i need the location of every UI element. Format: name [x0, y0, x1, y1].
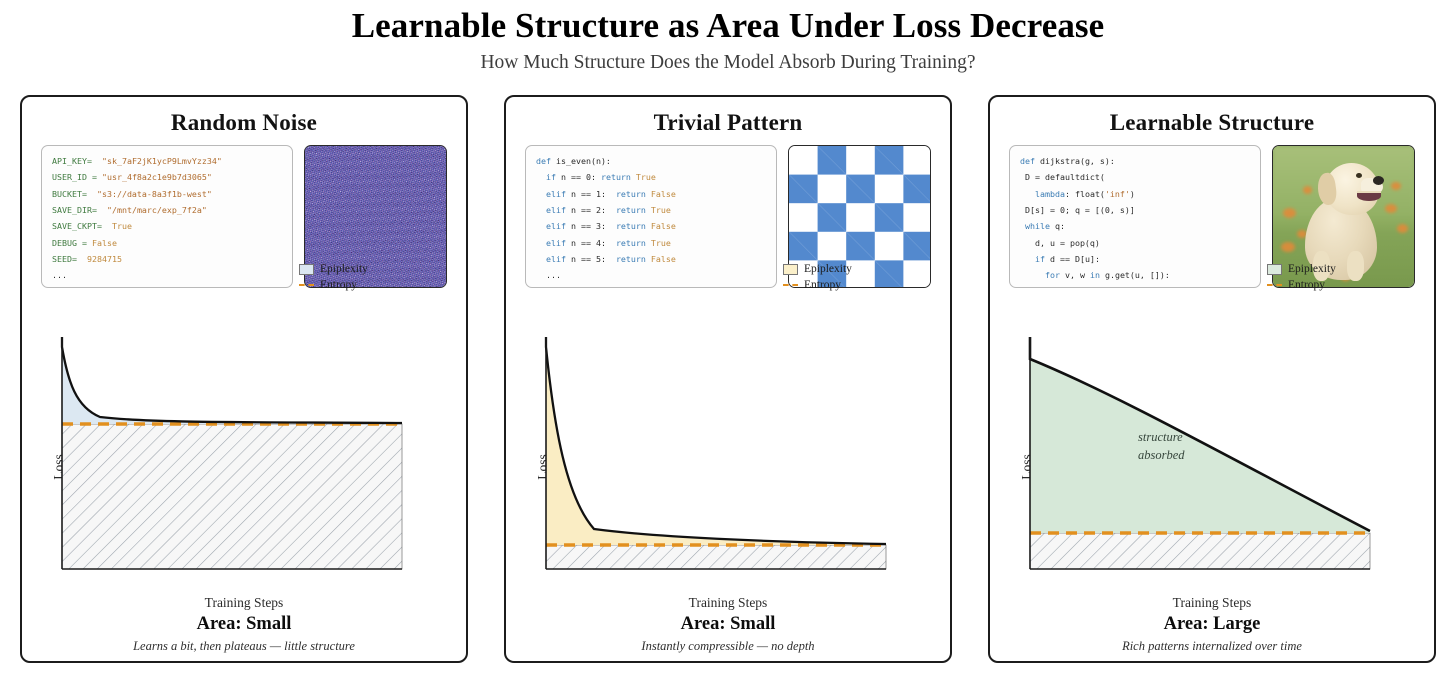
chart-svg: [60, 337, 460, 582]
code-line: elif n == 3: return False: [536, 218, 768, 234]
flower-icon: [1391, 182, 1401, 190]
legend: Epiplexity Entropy: [299, 261, 447, 293]
code-token: n == 5:: [571, 254, 616, 264]
code-token: dijkstra(g, s):: [1040, 156, 1115, 166]
code-token: g.get(u, []):: [1105, 270, 1170, 280]
code-token: q:: [1055, 221, 1065, 231]
code-token: while: [1020, 221, 1055, 231]
code-token: return: [616, 254, 651, 264]
code-token: True: [636, 172, 656, 182]
legend-row-entropy: Entropy: [1267, 277, 1415, 293]
chart-svg: structure absorbed: [1028, 337, 1428, 582]
code-token: "sk_7aF2jK1ycP9LmvYzz34": [102, 156, 222, 166]
code-token: return: [616, 205, 651, 215]
code-token: elif: [536, 238, 571, 248]
chart: Loss: [22, 337, 466, 597]
code-line: if n == 0: return True: [536, 169, 768, 185]
flower-icon: [1385, 204, 1397, 213]
code-token: [92, 156, 102, 166]
code-token: for: [1020, 270, 1065, 280]
flower-icon: [1281, 242, 1295, 252]
code-line: BUCKET= "s3://data-8a3f1b-west": [52, 186, 284, 202]
code-token: False: [651, 221, 676, 231]
annotation-line-1: structure: [1138, 430, 1183, 444]
code-token: return: [616, 189, 651, 199]
code-token: False: [92, 238, 117, 248]
code-token: "s3://data-8a3f1b-west": [97, 189, 212, 199]
panels-row: Random Noise API_KEY= "sk_7aF2jK1ycP9Lmv…: [20, 95, 1436, 665]
loss-curve: [546, 337, 886, 544]
code-token: ...: [536, 270, 561, 280]
area-summary: Area: Small: [22, 614, 466, 635]
entropy-dash-icon: [783, 284, 798, 286]
epiplexity-area: [62, 347, 402, 424]
code-token: ...: [52, 270, 67, 280]
code-line: elif n == 1: return False: [536, 186, 768, 202]
code-token: return: [616, 238, 651, 248]
panel-caption: Learns a bit, then plateaus — little str…: [22, 639, 466, 654]
epiplexity-swatch-icon: [299, 264, 314, 275]
legend: Epiplexity Entropy: [1267, 261, 1415, 293]
code-token: SAVE_CKPT=: [52, 221, 102, 231]
page-title: Learnable Structure as Area Under Loss D…: [0, 6, 1456, 46]
epiplexity-swatch-icon: [1267, 264, 1282, 275]
code-token: elif: [536, 254, 571, 264]
code-token: "/mnt/marc/exp_7f2a": [107, 205, 207, 215]
code-token: [97, 205, 107, 215]
code-block: def is_even(n): if n == 0: return True e…: [525, 145, 777, 288]
code-line: SAVE_DIR= "/mnt/marc/exp_7f2a": [52, 202, 284, 218]
dog-nose: [1373, 176, 1384, 185]
panel-learnable-structure: Learnable Structure def dijkstra(g, s): …: [988, 95, 1436, 663]
annotation-line-2: absorbed: [1138, 448, 1185, 462]
code-token: lambda: [1020, 189, 1065, 199]
code-token: n == 4:: [571, 238, 616, 248]
code-token: True: [651, 205, 671, 215]
code-token: def: [536, 156, 556, 166]
code-token: [87, 189, 97, 199]
code-line: if d == D[u]:: [1020, 251, 1252, 267]
code-token: elif: [536, 205, 571, 215]
code-token: [102, 221, 112, 231]
code-token: def: [1020, 156, 1040, 166]
code-token: : float(: [1065, 189, 1105, 199]
code-token: "usr_4f8a2c1e9b7d3065": [102, 172, 212, 182]
entropy-hatch-region: [62, 424, 402, 569]
code-line: elif n == 4: return True: [536, 235, 768, 251]
code-token: SEED=: [52, 254, 77, 264]
legend: Epiplexity Entropy: [783, 261, 931, 293]
code-token: n == 1:: [571, 189, 616, 199]
code-token: 9284715: [87, 254, 122, 264]
flower-icon: [1283, 208, 1296, 218]
code-token: True: [651, 238, 671, 248]
epiplexity-swatch-icon: [783, 264, 798, 275]
code-token: False: [651, 189, 676, 199]
code-token: DEBUG =: [52, 238, 87, 248]
legend-label-epiplexity: Epiplexity: [320, 263, 368, 275]
epiplexity-area: [1030, 359, 1370, 533]
legend-label-entropy: Entropy: [804, 279, 841, 291]
entropy-hatch-region: [546, 545, 886, 569]
code-line: for v, w in g.get(u, []):: [1020, 267, 1252, 283]
code-block: API_KEY= "sk_7aF2jK1ycP9LmvYzz34"USER_ID…: [41, 145, 293, 288]
x-axis-label: Training Steps: [990, 595, 1434, 611]
code-token: False: [651, 254, 676, 264]
code-line: elif n == 2: return True: [536, 202, 768, 218]
code-token: BUCKET=: [52, 189, 87, 199]
code-line: ...: [536, 267, 768, 283]
legend-row-epiplexity: Epiplexity: [783, 261, 931, 277]
entropy-dash-icon: [1267, 284, 1282, 286]
code-token: D = defaultdict(: [1020, 172, 1105, 182]
code-line: SEED= 9284715: [52, 251, 284, 267]
code-token: API_KEY=: [52, 156, 92, 166]
code-token: n == 0:: [561, 172, 601, 182]
legend-label-epiplexity: Epiplexity: [1288, 263, 1336, 275]
area-summary: Area: Large: [990, 614, 1434, 635]
chart: Loss: [506, 337, 950, 597]
code-token: return: [601, 172, 636, 182]
code-token: d == D[u]:: [1050, 254, 1100, 264]
panel-random-noise: Random Noise API_KEY= "sk_7aF2jK1ycP9Lmv…: [20, 95, 468, 663]
legend-row-epiplexity: Epiplexity: [1267, 261, 1415, 277]
loss-curve: [62, 337, 402, 423]
code-token: [77, 254, 87, 264]
code-token: True: [112, 221, 132, 231]
code-token: SAVE_DIR=: [52, 205, 97, 215]
legend-row-entropy: Entropy: [299, 277, 447, 293]
poster-root: Learnable Structure as Area Under Loss D…: [0, 0, 1456, 696]
code-token: USER_ID =: [52, 172, 97, 182]
code-token: ): [1130, 189, 1135, 199]
panel-title: Trivial Pattern: [506, 110, 950, 136]
code-line: def dijkstra(g, s):: [1020, 153, 1252, 169]
code-token: elif: [536, 189, 571, 199]
code-token: is_even(n):: [556, 156, 611, 166]
code-line: while q:: [1020, 218, 1252, 234]
x-axis-label: Training Steps: [22, 595, 466, 611]
code-token: in: [1090, 270, 1105, 280]
code-line: DEBUG = False: [52, 235, 284, 251]
entropy-dash-icon: [299, 284, 314, 286]
code-token: if: [536, 172, 561, 182]
code-block: def dijkstra(g, s): D = defaultdict( lam…: [1009, 145, 1261, 288]
legend-label-entropy: Entropy: [320, 279, 357, 291]
code-line: D[s] = 0; q = [(0, s)]: [1020, 202, 1252, 218]
legend-label-entropy: Entropy: [1288, 279, 1325, 291]
chart: Loss structure absorbed: [990, 337, 1434, 597]
code-line: lambda: float('inf'): [1020, 186, 1252, 202]
code-token: return: [616, 221, 651, 231]
x-axis-label: Training Steps: [506, 595, 950, 611]
code-line: def is_even(n):: [536, 153, 768, 169]
code-line: d, u = pop(q): [1020, 235, 1252, 251]
dog-mouth: [1357, 191, 1381, 201]
flower-icon: [1397, 224, 1408, 233]
code-token: elif: [536, 221, 571, 231]
code-line: SAVE_CKPT= True: [52, 218, 284, 234]
panel-caption: Instantly compressible — no depth: [506, 639, 950, 654]
code-token: n == 3:: [571, 221, 616, 231]
dog-eye: [1356, 173, 1362, 178]
area-summary: Area: Small: [506, 614, 950, 635]
code-line: elif n == 5: return False: [536, 251, 768, 267]
code-line: API_KEY= "sk_7aF2jK1ycP9LmvYzz34": [52, 153, 284, 169]
code-token: v, w: [1065, 270, 1090, 280]
legend-row-entropy: Entropy: [783, 277, 931, 293]
code-line: ...: [52, 267, 284, 283]
chart-svg: [544, 337, 944, 582]
panel-caption: Rich patterns internalized over time: [990, 639, 1434, 654]
page-subtitle: How Much Structure Does the Model Absorb…: [0, 52, 1456, 74]
panel-trivial-pattern: Trivial Pattern def is_even(n): if n == …: [504, 95, 952, 663]
code-token: 'inf': [1105, 189, 1130, 199]
epiplexity-area: [546, 347, 886, 545]
flower-icon: [1303, 186, 1312, 194]
legend-label-epiplexity: Epiplexity: [804, 263, 852, 275]
entropy-hatch-region: [1030, 533, 1370, 569]
code-line: USER_ID = "usr_4f8a2c1e9b7d3065": [52, 169, 284, 185]
code-token: d, u = pop(q): [1020, 238, 1100, 248]
legend-row-epiplexity: Epiplexity: [299, 261, 447, 277]
page-header: Learnable Structure as Area Under Loss D…: [0, 0, 1456, 74]
panel-title: Learnable Structure: [990, 110, 1434, 136]
code-token: D[s] = 0; q = [(0, s)]: [1020, 205, 1135, 215]
code-token: if: [1020, 254, 1050, 264]
code-token: n == 2:: [571, 205, 616, 215]
panel-title: Random Noise: [22, 110, 466, 136]
code-line: D = defaultdict(: [1020, 169, 1252, 185]
